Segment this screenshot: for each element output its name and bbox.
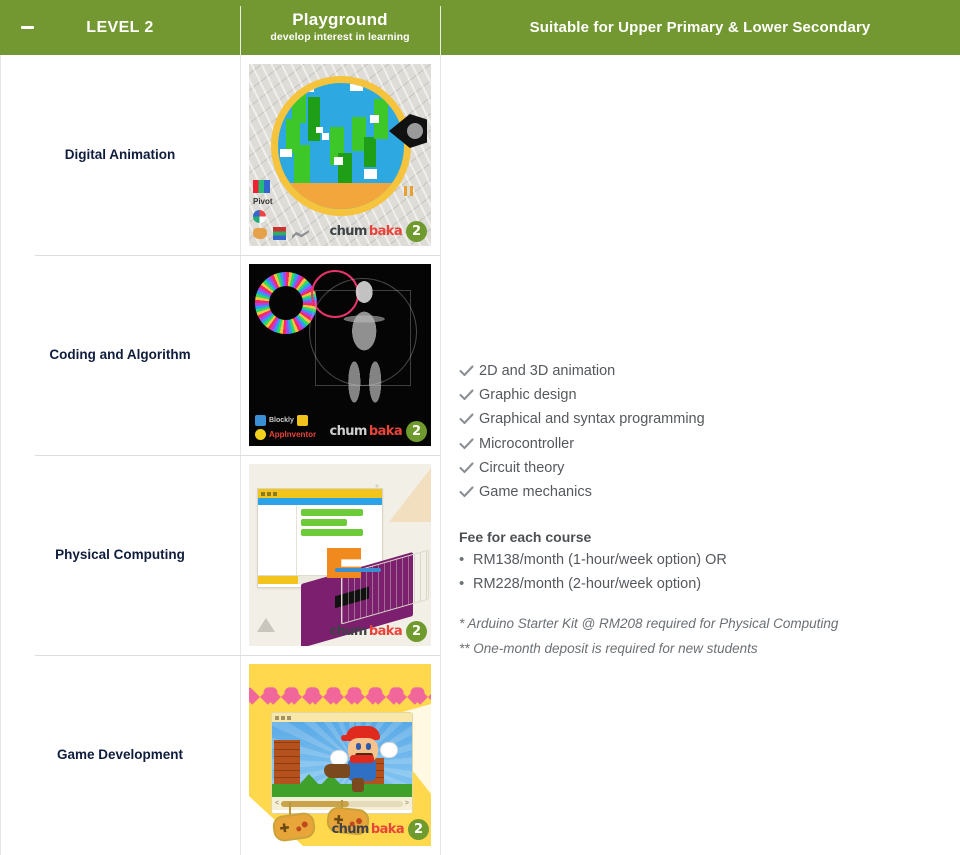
chumbaka-badge: chum baka 2 bbox=[330, 421, 427, 442]
wire-line bbox=[335, 568, 381, 572]
brand-part2: baka bbox=[369, 224, 402, 239]
checklist-label: Graphic design bbox=[479, 387, 577, 404]
triangle-decoration bbox=[389, 468, 431, 522]
game-window: <> bbox=[271, 712, 413, 814]
level-badge: 2 bbox=[406, 221, 427, 242]
course-label: Physical Computing bbox=[55, 546, 185, 564]
brand-part1: chum bbox=[332, 822, 369, 837]
feature-checklist: 2D and 3D animation Graphic design Graph… bbox=[459, 363, 705, 508]
checklist-label: Circuit theory bbox=[479, 460, 564, 477]
course-name-cell: Physical Computing bbox=[0, 455, 240, 655]
note-arduino-kit: * Arduino Starter Kit @ RM208 required f… bbox=[459, 616, 889, 631]
level-badge: 2 bbox=[408, 819, 429, 840]
list-item: • RM138/month (1-hour/week option) OR bbox=[459, 552, 889, 569]
course-thumbnail-cell[interactable]: Pivot chum baka bbox=[240, 55, 440, 255]
check-icon bbox=[459, 365, 479, 377]
fee-title: Fee for each course bbox=[459, 529, 889, 545]
brand-part1: chum bbox=[330, 624, 367, 639]
playground-title: Playground bbox=[292, 11, 388, 30]
table-row: Coding and Algorithm Blockly AppInven bbox=[0, 255, 440, 455]
checklist-label: 2D and 3D animation bbox=[479, 363, 615, 380]
chumbaka-badge: chum baka 2 bbox=[330, 221, 427, 242]
gamepad-icon-left bbox=[271, 811, 316, 843]
table-header-row: LEVEL 2 Playground develop interest in l… bbox=[0, 0, 960, 55]
app-dot-icon bbox=[255, 429, 266, 440]
fee-option-label: RM138/month (1-hour/week option) OR bbox=[473, 552, 727, 568]
course-label: Game Development bbox=[57, 746, 183, 764]
tool-icon-group: Pivot bbox=[253, 180, 309, 240]
level-badge: 2 bbox=[406, 621, 427, 642]
level-badge: 2 bbox=[406, 421, 427, 442]
table-body: Digital Animation bbox=[0, 55, 960, 855]
header-cell-playground: Playground develop interest in learning bbox=[240, 0, 440, 55]
brand-part1: chum bbox=[330, 224, 367, 239]
blockly-icon bbox=[255, 415, 266, 426]
code-blocks bbox=[253, 390, 377, 408]
stick-figure-icon bbox=[401, 186, 415, 220]
list-item: Game mechanics bbox=[459, 484, 705, 501]
course-name-cell: Coding and Algorithm bbox=[0, 255, 240, 455]
ball-icon bbox=[253, 210, 266, 223]
swim-icon bbox=[292, 228, 309, 239]
table-row: Physical Computing bbox=[0, 455, 440, 655]
digital-animation-thumbnail[interactable]: Pivot chum baka bbox=[249, 64, 431, 246]
list-item: • RM228/month (2-hour/week option) bbox=[459, 576, 889, 593]
tool-logo-group: Blockly AppInventor bbox=[255, 415, 316, 440]
heart-border-decoration bbox=[249, 676, 431, 702]
check-icon bbox=[459, 486, 479, 498]
list-item: Microcontroller bbox=[459, 436, 705, 453]
table-row: Digital Animation bbox=[0, 55, 440, 255]
list-item: Circuit theory bbox=[459, 460, 705, 477]
grid-icon bbox=[273, 227, 286, 240]
check-icon bbox=[459, 413, 479, 425]
minus-icon[interactable] bbox=[18, 19, 36, 37]
pivot-icon: Pivot bbox=[253, 197, 309, 206]
level-2-course-table: LEVEL 2 Playground develop interest in l… bbox=[0, 0, 960, 855]
check-icon bbox=[459, 438, 479, 450]
check-icon bbox=[459, 389, 479, 401]
note-deposit: ** One-month deposit is required for new… bbox=[459, 641, 889, 656]
triangle-outline-decoration bbox=[257, 618, 275, 632]
course-name-cell: Digital Animation bbox=[0, 55, 240, 255]
brand-part1: chum bbox=[330, 424, 367, 439]
level-label: LEVEL 2 bbox=[86, 19, 153, 37]
course-thumbnail-cell[interactable]: chum baka 2 bbox=[240, 455, 440, 655]
course-thumbnail-cell[interactable]: <> chum baka 2 bbox=[240, 655, 440, 855]
course-label: Coding and Algorithm bbox=[49, 346, 190, 364]
checklist-label: Game mechanics bbox=[479, 484, 592, 501]
chumbaka-badge: chum baka 2 bbox=[330, 621, 427, 642]
course-thumbnail-cell[interactable]: Blockly AppInventor chum baka 2 bbox=[240, 255, 440, 455]
scratch-icon bbox=[253, 228, 267, 239]
coding-algorithm-thumbnail[interactable]: Blockly AppInventor chum baka 2 bbox=[249, 264, 431, 446]
spark-icon bbox=[297, 415, 308, 426]
physical-computing-thumbnail[interactable]: chum baka 2 bbox=[249, 464, 431, 646]
checklist-label: Graphical and syntax programming bbox=[479, 411, 705, 428]
course-details-panel: 2D and 3D animation Graphic design Graph… bbox=[441, 55, 960, 855]
course-name-cell: Game Development bbox=[0, 655, 240, 855]
game-development-thumbnail[interactable]: <> chum baka 2 bbox=[249, 664, 431, 846]
check-icon bbox=[459, 462, 479, 474]
checklist-label: Microcontroller bbox=[479, 436, 574, 453]
list-item: Graphical and syntax programming bbox=[459, 411, 705, 428]
course-label: Digital Animation bbox=[65, 146, 176, 164]
playground-subtitle: develop interest in learning bbox=[270, 32, 409, 44]
list-item: Graphic design bbox=[459, 387, 705, 404]
brand-part2: baka bbox=[369, 424, 402, 439]
chumbaka-badge: chum baka 2 bbox=[332, 819, 429, 840]
suitability-label: Suitable for Upper Primary & Lower Secon… bbox=[530, 19, 871, 36]
pixel-editor-icon bbox=[253, 180, 270, 193]
table-row: Game Development bbox=[0, 655, 440, 855]
header-cell-level: LEVEL 2 bbox=[0, 0, 240, 55]
header-cell-suitability: Suitable for Upper Primary & Lower Secon… bbox=[440, 0, 960, 55]
bullet-icon: • bbox=[459, 576, 473, 593]
brand-part2: baka bbox=[371, 822, 404, 837]
bullet-icon: • bbox=[459, 552, 473, 569]
mario-character bbox=[324, 726, 398, 792]
fee-section: Fee for each course • RM138/month (1-hou… bbox=[459, 529, 889, 656]
list-item: 2D and 3D animation bbox=[459, 363, 705, 380]
fee-option-label: RM228/month (2-hour/week option) bbox=[473, 576, 701, 592]
brand-part2: baka bbox=[369, 624, 402, 639]
